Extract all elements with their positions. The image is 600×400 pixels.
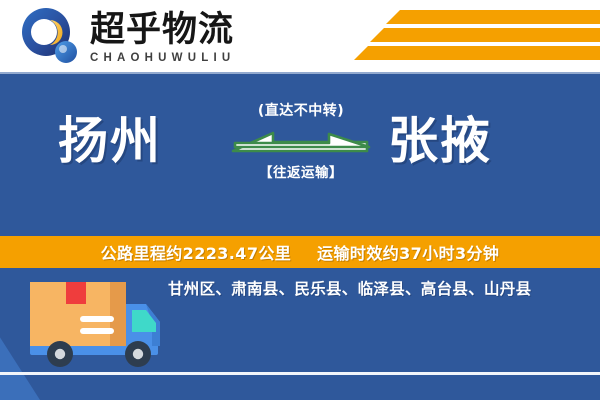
origin-city-label: 扬州 <box>58 116 162 166</box>
poster-header: 超乎物流 CHAOHUWULIU <box>0 0 600 74</box>
route-arrow-group: (直达不中转) 【往返运输】 <box>228 104 374 212</box>
stripes-decoration <box>340 0 600 74</box>
brand-name-en: CHAOHUWULIU <box>90 52 235 64</box>
destination-city-label: 张掖 <box>388 116 492 166</box>
route-arrow <box>231 125 371 161</box>
duration-text: 运输时效约37小时3分钟 <box>317 244 499 263</box>
distance-text: 公路里程约2223.47公里 <box>101 244 291 263</box>
chaohu-circle-logo-icon <box>20 6 82 68</box>
coverage-panel: 甘州区、肃南县、民乐县、临泽县、高台县、山丹县 <box>0 268 600 400</box>
route-panel: 扬州 (直达不中转) 【往返运输】 张掖 <box>0 74 600 236</box>
delivery-truck-icon <box>22 278 172 376</box>
brand-name-cn: 超乎物流 <box>90 12 235 50</box>
brand-text-block: 超乎物流 CHAOHUWULIU <box>90 10 235 64</box>
logistics-route-poster: 超乎物流 CHAOHUWULIU 扬州 (直达不中转) 【往返运输】 张掖 公路… <box>0 0 600 400</box>
brand-lockup: 超乎物流 CHAOHUWULIU <box>20 6 235 68</box>
road-line <box>0 372 600 375</box>
orange-stripes-decoration-icon <box>340 0 600 74</box>
company-logo <box>20 6 82 68</box>
bidirectional-arrow-icon <box>231 125 371 161</box>
delivery-truck <box>22 278 172 376</box>
direct-service-note: (直达不中转) <box>258 104 344 118</box>
covered-counties-list: 甘州区、肃南县、民乐县、临泽县、高台县、山丹县 <box>168 282 531 298</box>
band-text-row: 公路里程约2223.47公里 运输时效约37小时3分钟 <box>101 240 500 264</box>
distance-duration-band: 公路里程约2223.47公里 运输时效约37小时3分钟 <box>0 236 600 268</box>
round-trip-note: 【往返运输】 <box>259 167 343 181</box>
